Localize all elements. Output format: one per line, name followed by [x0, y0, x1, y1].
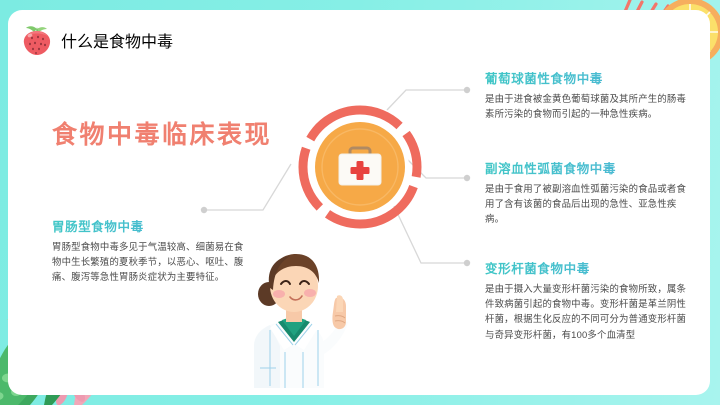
block-proteus: 变形杆菌食物中毒 是由于摄入大量变形杆菌污染的食物所致，属条件致病菌引起的食物中…: [485, 258, 690, 342]
connector-dot-gastro: [201, 207, 207, 213]
block-proteus-heading: 变形杆菌食物中毒: [485, 258, 690, 277]
block-vibrio-heading: 副溶血性弧菌食物中毒: [485, 158, 690, 177]
first-aid-kit-icon: [339, 148, 381, 185]
block-gastro-body: 胃肠型食物中毒多见于气温较高、细菌易在食物中生长繁殖的夏秋季节，以恶心、呕吐、腹…: [52, 239, 252, 285]
connector-dot-staph: [464, 87, 470, 93]
block-gastro-heading: 胃肠型食物中毒: [52, 216, 252, 235]
block-staph-heading: 葡萄球菌性食物中毒: [485, 68, 690, 87]
center-graphic: [298, 105, 422, 229]
block-staph: 葡萄球菌性食物中毒 是由于进食被金黄色葡萄球菌及其所产生的肠毒素所污染的食物而引…: [485, 68, 690, 121]
block-gastro: 胃肠型食物中毒 胃肠型食物中毒多见于气温较高、细菌易在食物中生长繁殖的夏秋季节，…: [52, 216, 252, 285]
block-vibrio-body: 是由于食用了被副溶血性弧菌污染的食品或者食用了含有该菌的食品后出现的急性、亚急性…: [485, 181, 690, 227]
block-vibrio: 副溶血性弧菌食物中毒 是由于食用了被副溶血性弧菌污染的食品或者食用了含有该菌的食…: [485, 158, 690, 227]
connector-dot-proteus: [464, 260, 470, 266]
block-staph-body: 是由于进食被金黄色葡萄球菌及其所产生的肠毒素所污染的食物而引起的一种急性疾病。: [485, 91, 690, 121]
block-proteus-body: 是由于摄入大量变形杆菌污染的食物所致，属条件致病菌引起的食物中毒。变形杆菌是革兰…: [485, 281, 690, 342]
content-card: 什么是食物中毒 食物中毒临床表现: [8, 10, 710, 395]
connector-gastro: [204, 164, 291, 210]
connector-dot-vibrio: [464, 175, 470, 181]
